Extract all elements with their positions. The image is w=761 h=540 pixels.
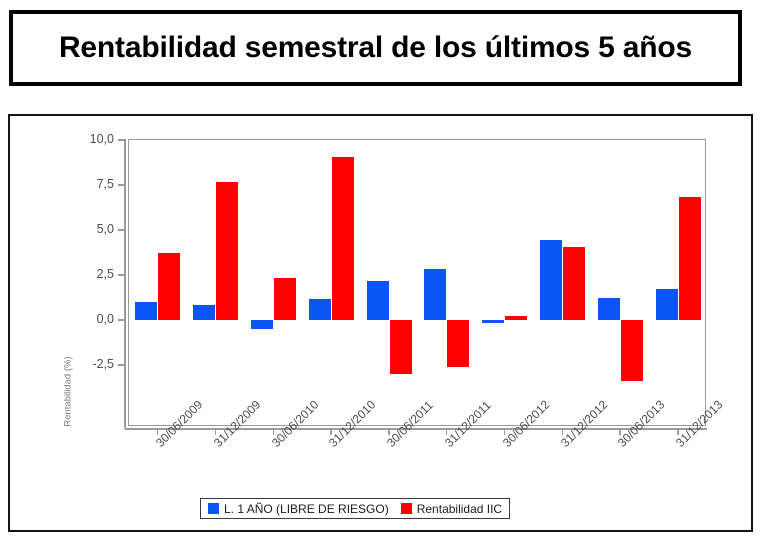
plot-frame [128,139,706,426]
legend-swatch-icon [208,503,219,514]
bar-series1 [193,305,215,320]
bar-series1 [251,320,273,329]
bar-series1 [540,240,562,320]
bar-series1 [598,298,620,321]
bar-series2 [621,320,643,381]
page-title: Rentabilidad semestral de los últimos 5 … [59,31,692,65]
title-banner: Rentabilidad semestral de los últimos 5 … [9,10,742,86]
y-axis-tick [118,184,124,186]
y-axis-tick-label: 5,0 [58,222,114,236]
y-axis-tick [118,229,124,231]
bar-series1 [367,281,389,320]
bar-series1 [309,299,331,320]
bar-series1 [424,269,446,320]
y-axis-tick-label: -2,5 [58,357,114,371]
bar-series2 [563,247,585,320]
bar-series2 [216,182,238,320]
bar-series2 [679,197,701,320]
bar-series2 [332,157,354,320]
y-axis-tick [118,274,124,276]
bar-series1 [482,320,504,323]
chart-container: Rentabilidad (%) 10,07,55,02,50,0-2,5 30… [8,114,753,532]
y-axis-tick-label: 0,0 [58,312,114,326]
y-axis-tick-label: 2,5 [58,267,114,281]
bar-series2 [447,320,469,367]
y-axis-line [124,139,126,428]
legend-entry[interactable]: Rentabilidad IIC [401,502,502,516]
y-axis-tick-label: 7,5 [58,177,114,191]
bar-series1 [135,302,157,320]
plot-area [129,140,705,425]
y-axis-tick [118,319,124,321]
legend-label: Rentabilidad IIC [417,502,502,516]
bar-series2 [390,320,412,374]
bar-series2 [505,316,527,321]
legend-label: L. 1 AÑO (LIBRE DE RIESGO) [224,502,389,516]
bar-series2 [274,278,296,320]
legend-entry[interactable]: L. 1 AÑO (LIBRE DE RIESGO) [208,502,389,516]
y-axis-tick [118,139,124,141]
chart-inner: Rentabilidad (%) 10,07,55,02,50,0-2,5 30… [10,116,751,530]
chart-legend: L. 1 AÑO (LIBRE DE RIESGO)Rentabilidad I… [200,498,510,519]
legend-swatch-icon [401,503,412,514]
y-axis-title-holder: Rentabilidad (%) [26,256,86,316]
bar-series2 [158,253,180,320]
y-axis-tick-label: 10,0 [58,132,114,146]
bar-series1 [656,289,678,320]
y-axis-tick [118,364,124,366]
